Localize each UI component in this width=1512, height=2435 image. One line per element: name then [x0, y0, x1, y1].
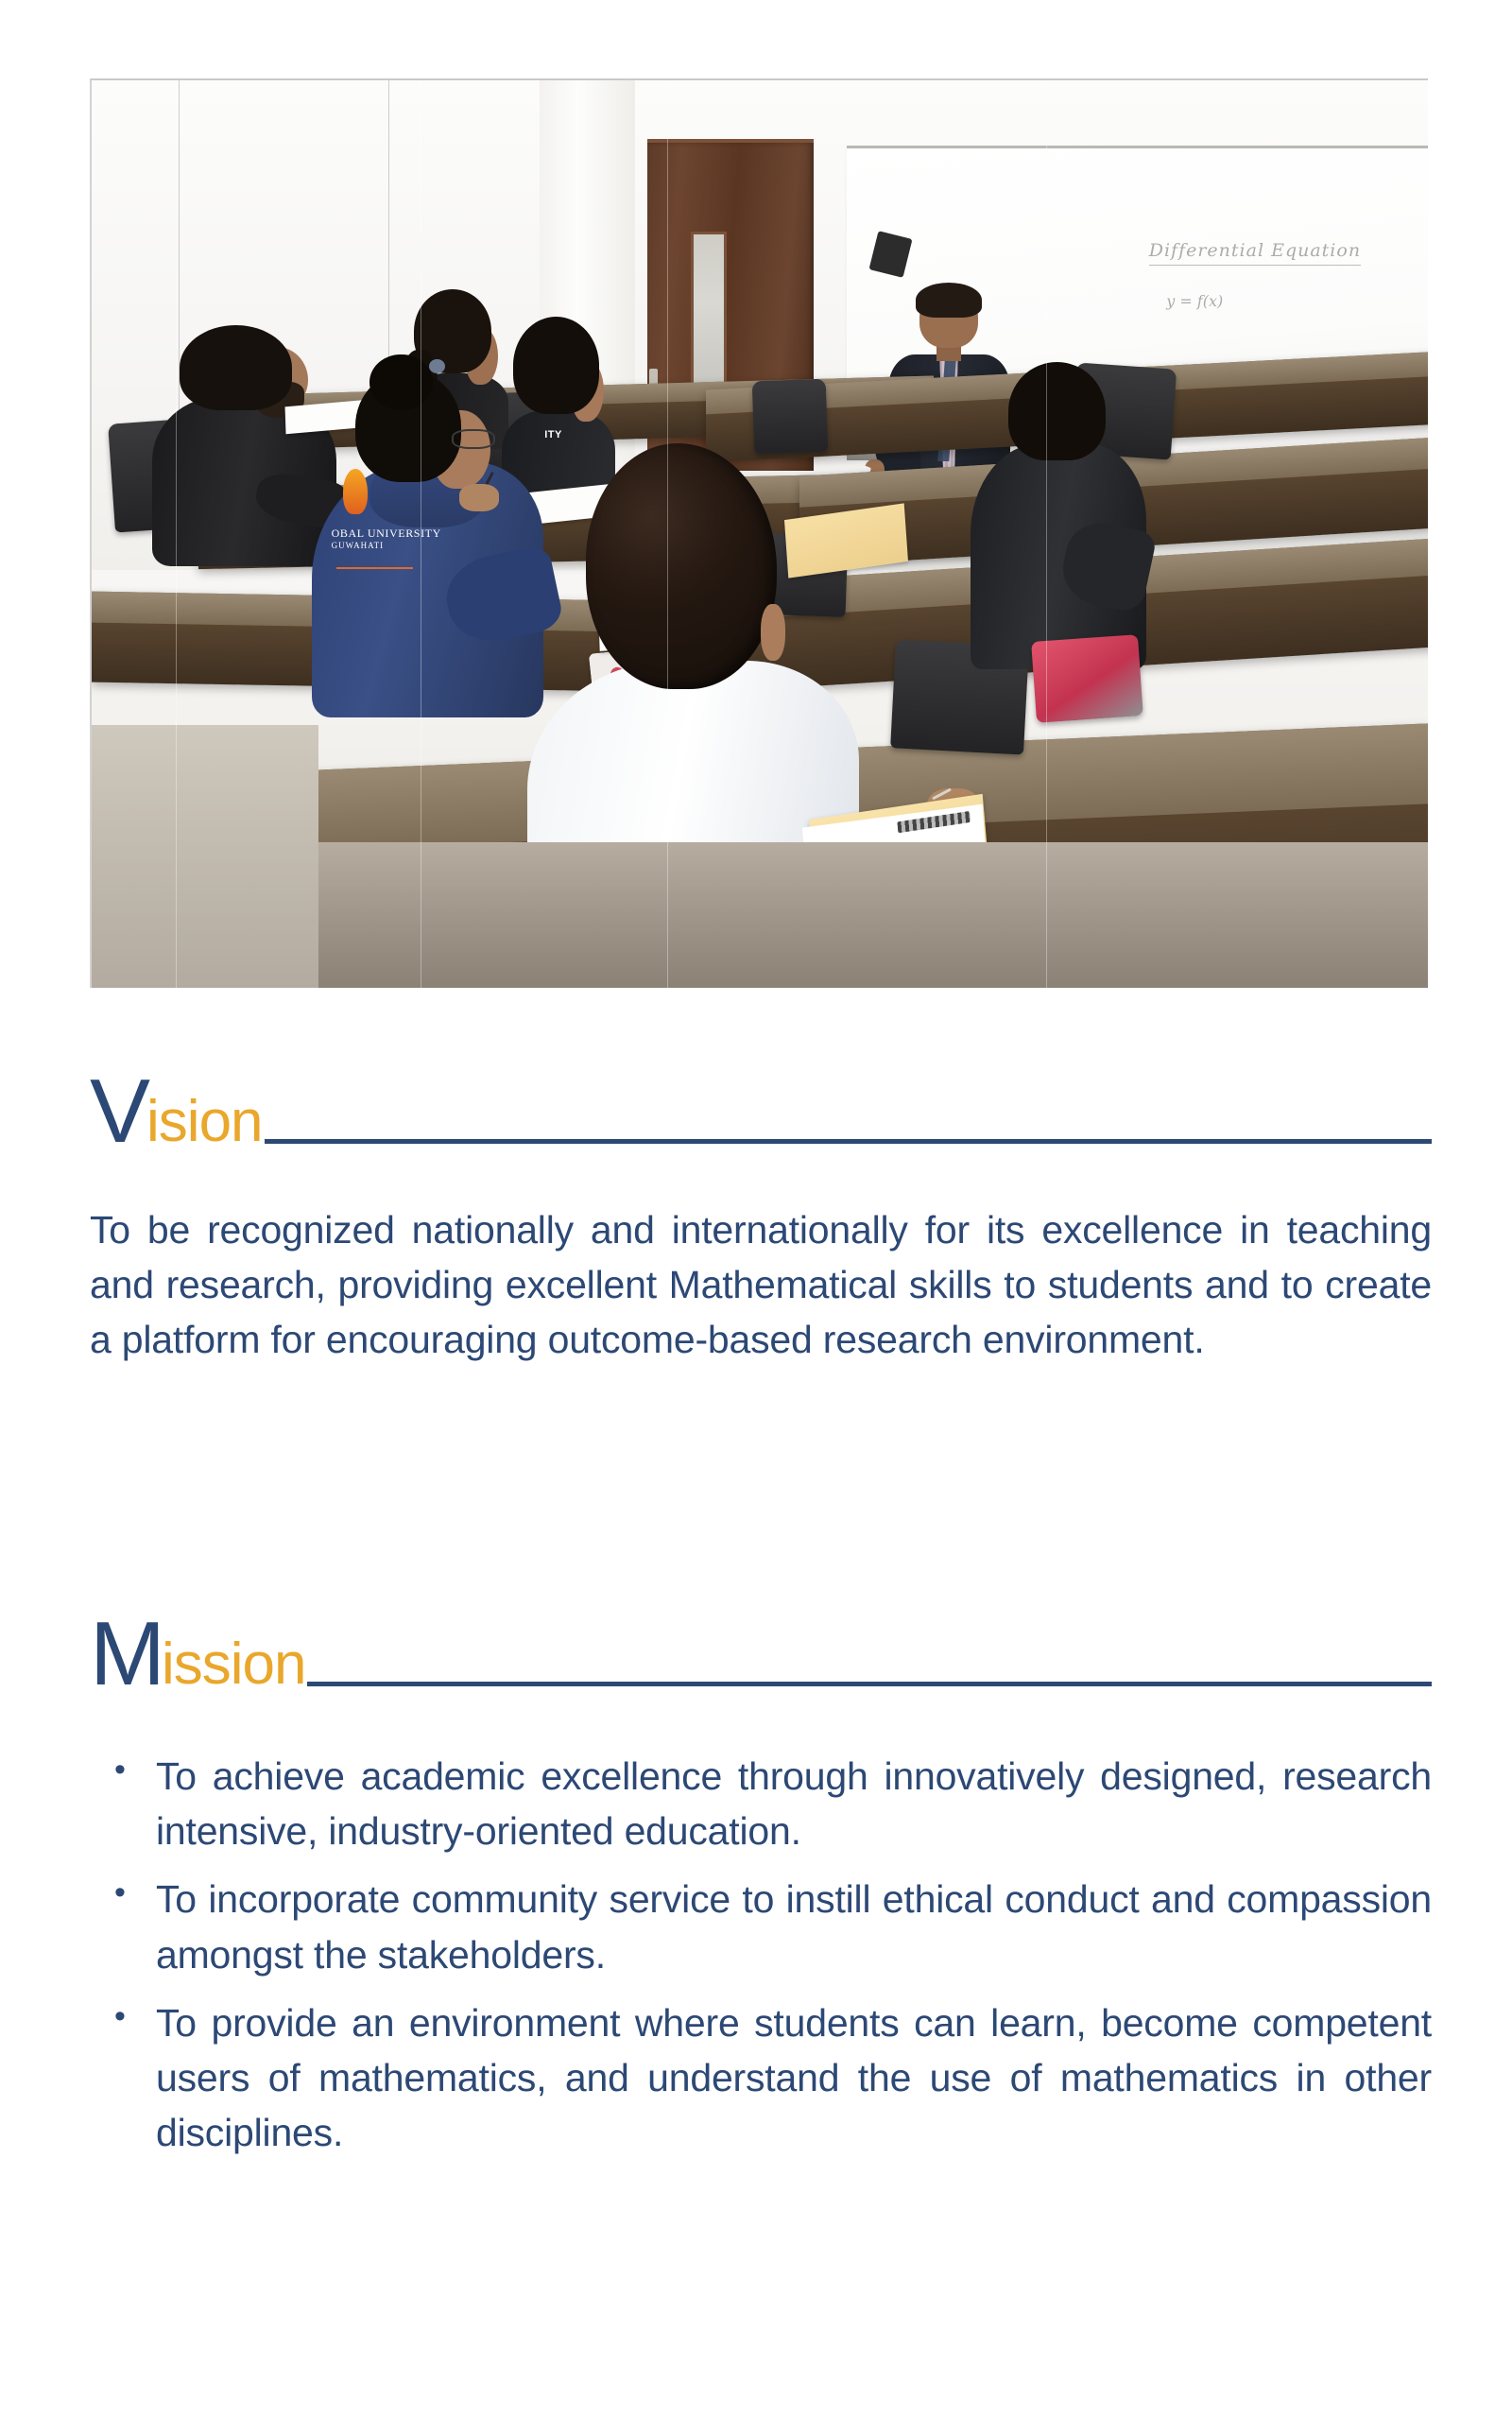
mission-heading-initial: M — [90, 1613, 163, 1696]
mission-list-item: To provide an environment where students… — [90, 1995, 1432, 2161]
student-hand — [459, 484, 499, 511]
whiteboard-text-line-1: Differential Equation — [1149, 240, 1361, 261]
chair — [752, 378, 828, 453]
hoodie-brand-text: OBAL UNIVERSITY GUWAHATI — [332, 527, 476, 550]
mission-heading-rule — [307, 1682, 1432, 1686]
door-glass-panel — [691, 232, 728, 389]
student-figure — [967, 362, 1154, 652]
vision-heading-rest: ision — [146, 1093, 263, 1153]
photo-stage: Differential Equation y = f(x) — [92, 80, 1428, 988]
hoodie-brand-line-1: OBAL UNIVERSITY — [332, 527, 441, 540]
university-logo-icon — [343, 469, 367, 514]
mission-list-item: To achieve academic excellence through i… — [90, 1749, 1432, 1858]
eyeglasses-icon — [452, 429, 495, 449]
notepad-binding — [897, 811, 971, 833]
hoodie-brand-line-2: GUWAHATI — [332, 541, 476, 550]
mission-heading: M ission — [90, 1613, 1432, 1696]
mission-list-item: To incorporate community service to inst… — [90, 1872, 1432, 1981]
vision-body-text: To be recognized nationally and internat… — [90, 1202, 1432, 1368]
vision-mission-page: Differential Equation y = f(x) — [0, 0, 1512, 2435]
whiteboard-marker-icon — [868, 231, 912, 278]
student-figure-hoodie: OBAL UNIVERSITY GUWAHATI — [312, 371, 553, 698]
classroom-photo: Differential Equation y = f(x) — [90, 78, 1428, 988]
vision-heading: V ision — [90, 1070, 1432, 1153]
vision-heading-initial: V — [90, 1070, 148, 1153]
backpack-pink — [1031, 635, 1143, 724]
instructor-hair — [916, 283, 982, 318]
mission-heading-rest: ission — [162, 1635, 306, 1696]
mission-list: To achieve academic excellence through i… — [90, 1749, 1432, 2161]
vision-heading-rule — [265, 1139, 1432, 1144]
classroom-floor-left — [92, 725, 318, 988]
whiteboard-text-line-2: y = f(x) — [1166, 292, 1223, 310]
